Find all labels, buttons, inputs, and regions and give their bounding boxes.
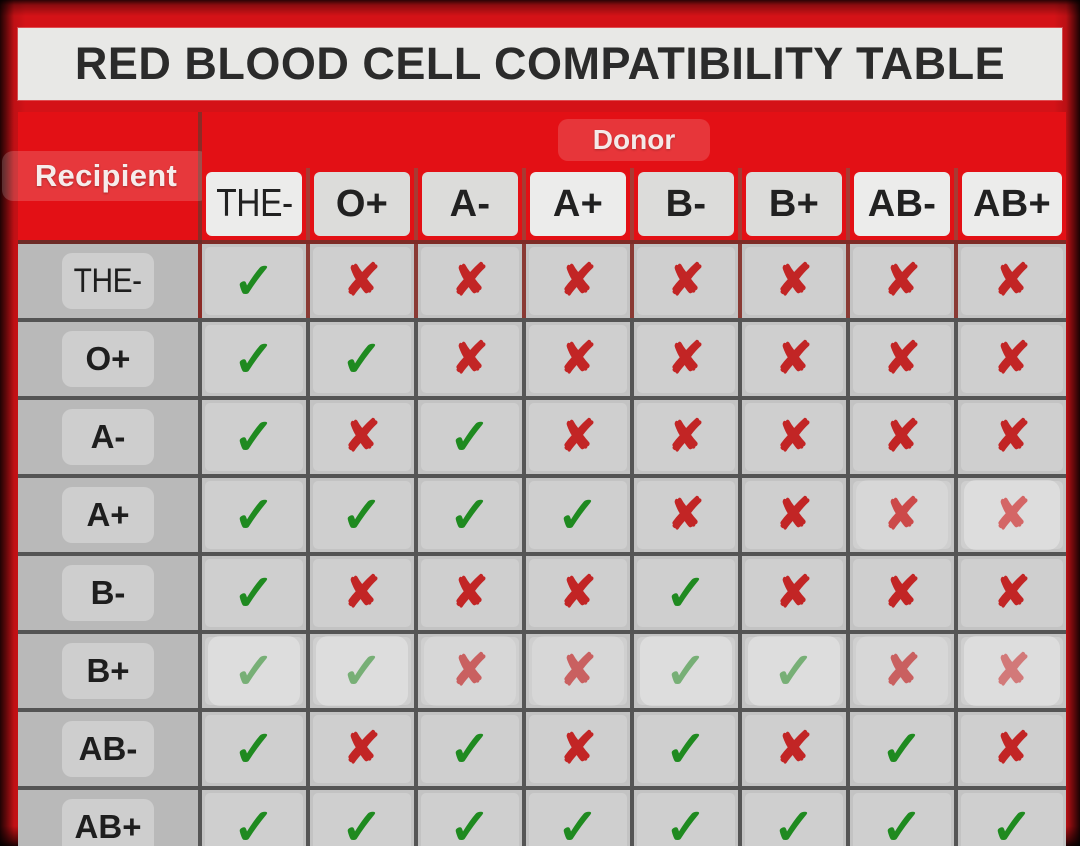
cell-chip: ✘ [313, 559, 411, 627]
cross-icon: ✘ [884, 415, 921, 459]
cell-chip: ✘ [421, 637, 519, 705]
cross-icon: ✘ [560, 337, 597, 381]
cross-icon: ✘ [994, 415, 1031, 459]
compatibility-cell-AB+-O+[interactable]: ✓ [308, 788, 416, 846]
compatibility-cell-AB+-B+[interactable]: ✓ [740, 788, 848, 846]
compatibility-cell-AB--THE-[interactable]: ✓ [200, 710, 308, 788]
donor-header-label: A- [450, 183, 491, 226]
compatibility-cell-A--O+[interactable]: ✘ [308, 398, 416, 476]
check-icon: ✓ [341, 490, 383, 540]
compatibility-cell-AB+-AB+[interactable]: ✓ [956, 788, 1066, 846]
cell-chip: ✘ [637, 247, 735, 315]
donor-header-chip: AB+ [962, 172, 1062, 236]
cross-icon: ✘ [560, 415, 597, 459]
recipient-row-header-opos[interactable]: O+ [18, 320, 200, 398]
compatibility-cell-O+-AB+[interactable]: ✘ [956, 320, 1066, 398]
compatibility-cell-A--A-[interactable]: ✓ [416, 398, 524, 476]
recipient-row-label: B- [91, 574, 126, 612]
check-icon: ✓ [233, 802, 275, 846]
cross-icon: ✘ [560, 571, 597, 615]
cell-chip: ✘ [637, 481, 735, 549]
check-icon: ✓ [665, 646, 707, 696]
recipient-row-header-bpos[interactable]: B+ [18, 632, 200, 710]
recipient-row-header-theneg[interactable]: THE- [18, 242, 200, 320]
cross-icon: ✘ [560, 727, 597, 771]
table-row: A-✓✘✓✘✘✘✘✘ [18, 398, 1066, 476]
cross-icon: ✘ [776, 415, 813, 459]
cell-chip: ✘ [529, 637, 627, 705]
compatibility-cell-AB--AB+[interactable]: ✘ [956, 710, 1066, 788]
donor-column-header-bneg[interactable]: B- [632, 168, 740, 242]
cell-chip: ✘ [961, 247, 1063, 315]
cell-chip: ✘ [421, 325, 519, 393]
cell-chip: ✘ [529, 403, 627, 471]
compatibility-cell-A+-AB-[interactable]: ✘ [848, 476, 956, 554]
donor-column-header-bpos[interactable]: B+ [740, 168, 848, 242]
donor-column-header-abneg[interactable]: AB- [848, 168, 956, 242]
compatibility-cell-A--AB-[interactable]: ✘ [848, 398, 956, 476]
compatibility-cell-B+-THE-[interactable]: ✓ [200, 632, 308, 710]
cell-chip: ✘ [421, 559, 519, 627]
check-icon: ✓ [557, 490, 599, 540]
cross-icon: ✘ [776, 727, 813, 771]
cell-chip: ✓ [961, 793, 1063, 846]
recipient-header-chip: A- [62, 409, 154, 465]
compatibility-cell-A+-A+[interactable]: ✓ [524, 476, 632, 554]
cell-chip: ✘ [529, 559, 627, 627]
cross-icon: ✘ [452, 259, 489, 303]
cell-chip: ✓ [313, 793, 411, 846]
table-row: AB-✓✘✓✘✓✘✓✘ [18, 710, 1066, 788]
cell-chip: ✘ [745, 559, 843, 627]
cross-icon: ✘ [884, 337, 921, 381]
cell-chip: ✓ [637, 559, 735, 627]
cell-chip: ✓ [745, 793, 843, 846]
compatibility-cell-A+-B-[interactable]: ✘ [632, 476, 740, 554]
donor-column-header-apos[interactable]: A+ [524, 168, 632, 242]
cell-chip: ✘ [961, 403, 1063, 471]
check-icon: ✓ [233, 334, 275, 384]
donor-header-label: A+ [553, 183, 603, 226]
cell-chip: ✓ [205, 247, 303, 315]
compatibility-cell-B--A-[interactable]: ✘ [416, 554, 524, 632]
cell-chip: ✘ [853, 403, 951, 471]
compatibility-cell-AB--B-[interactable]: ✓ [632, 710, 740, 788]
recipient-header-chip: THE- [62, 253, 154, 309]
cell-chip: ✓ [853, 793, 951, 846]
compatibility-cell-AB--A+[interactable]: ✘ [524, 710, 632, 788]
cell-chip: ✘ [961, 325, 1063, 393]
compatibility-cell-AB+-THE-[interactable]: ✓ [200, 788, 308, 846]
cell-chip: ✘ [853, 247, 951, 315]
cross-icon: ✘ [668, 493, 705, 537]
check-icon: ✓ [773, 802, 815, 846]
page-title: RED BLOOD CELL COMPATIBILITY TABLE [75, 38, 1005, 90]
compatibility-cell-B+-A+[interactable]: ✘ [524, 632, 632, 710]
check-icon: ✓ [773, 646, 815, 696]
check-icon: ✓ [341, 646, 383, 696]
compatibility-cell-O+-B-[interactable]: ✘ [632, 320, 740, 398]
check-icon: ✓ [557, 802, 599, 846]
compatibility-cell-AB+-AB-[interactable]: ✓ [848, 788, 956, 846]
cell-chip: ✘ [961, 715, 1063, 783]
cell-chip: ✘ [313, 715, 411, 783]
check-icon: ✓ [341, 802, 383, 846]
recipient-axis-label: Recipient [35, 158, 177, 194]
cross-icon: ✘ [776, 571, 813, 615]
recipient-row-header-abpos[interactable]: AB+ [18, 788, 200, 846]
table-row: O+✓✓✘✘✘✘✘✘ [18, 320, 1066, 398]
cell-chip: ✘ [745, 715, 843, 783]
check-icon: ✓ [233, 412, 275, 462]
compatibility-cell-O+-B+[interactable]: ✘ [740, 320, 848, 398]
recipient-row-header-bneg[interactable]: B- [18, 554, 200, 632]
cell-chip: ✓ [205, 793, 303, 846]
donor-header-label: B- [666, 183, 707, 226]
table-row: B+✓✓✘✘✓✓✘✘ [18, 632, 1066, 710]
table-row: AB+✓✓✓✓✓✓✓✓ [18, 788, 1066, 846]
recipient-row-header-aneg[interactable]: A- [18, 398, 200, 476]
compatibility-cell-AB--B+[interactable]: ✘ [740, 710, 848, 788]
cell-chip: ✘ [313, 403, 411, 471]
cell-chip: ✓ [205, 481, 303, 549]
cell-chip: ✓ [205, 715, 303, 783]
cross-icon: ✘ [994, 727, 1031, 771]
cross-icon: ✘ [884, 493, 921, 537]
compatibility-cell-O+-AB-[interactable]: ✘ [848, 320, 956, 398]
compatibility-cell-AB--AB-[interactable]: ✓ [848, 710, 956, 788]
cross-icon: ✘ [668, 337, 705, 381]
compatibility-cell-A--THE-[interactable]: ✓ [200, 398, 308, 476]
table-row: A+✓✓✓✓✘✘✘✘ [18, 476, 1066, 554]
donor-column-header-abpos[interactable]: AB+ [956, 168, 1066, 242]
cell-chip: ✓ [637, 793, 735, 846]
donor-axis-label-cell: Donor [200, 112, 1066, 168]
cell-chip: ✓ [637, 715, 735, 783]
cell-chip: ✘ [529, 247, 627, 315]
cell-chip: ✓ [529, 793, 627, 846]
cell-chip: ✓ [421, 481, 519, 549]
compatibility-cell-O+-A+[interactable]: ✘ [524, 320, 632, 398]
compatibility-cell-A--A+[interactable]: ✘ [524, 398, 632, 476]
check-icon: ✓ [341, 334, 383, 384]
check-icon: ✓ [449, 802, 491, 846]
recipient-row-header-apos[interactable]: A+ [18, 476, 200, 554]
cell-chip: ✓ [205, 559, 303, 627]
recipient-row-label: AB+ [75, 808, 142, 846]
compatibility-cell-A--B+[interactable]: ✘ [740, 398, 848, 476]
recipient-label-pill: Recipient [2, 151, 210, 201]
check-icon: ✓ [233, 256, 275, 306]
cross-icon: ✘ [994, 571, 1031, 615]
donor-header-chip: AB- [854, 172, 950, 236]
recipient-row-label: A- [91, 418, 126, 456]
cell-chip: ✘ [421, 247, 519, 315]
compatibility-cell-THE--AB-[interactable]: ✘ [848, 242, 956, 320]
recipient-row-header-abneg[interactable]: AB- [18, 710, 200, 788]
cell-chip: ✘ [745, 481, 843, 549]
recipient-row-label: B+ [86, 652, 129, 690]
cell-chip: ✘ [853, 637, 951, 705]
cell-chip: ✘ [529, 715, 627, 783]
cell-chip: ✓ [745, 637, 843, 705]
check-icon: ✓ [233, 568, 275, 618]
donor-header-chip: B+ [746, 172, 842, 236]
donor-column-header-theneg[interactable]: THE- [200, 168, 308, 242]
donor-label-pill: Donor [558, 119, 710, 161]
cross-icon: ✘ [560, 259, 597, 303]
compatibility-cell-B--O+[interactable]: ✘ [308, 554, 416, 632]
compatibility-cell-A+-A-[interactable]: ✓ [416, 476, 524, 554]
compatibility-cell-B--B+[interactable]: ✘ [740, 554, 848, 632]
donor-header-chip: O+ [314, 172, 410, 236]
cross-icon: ✘ [344, 259, 381, 303]
recipient-row-label: THE- [74, 262, 142, 301]
compatibility-cell-THE--A+[interactable]: ✘ [524, 242, 632, 320]
compatibility-cell-B+-AB-[interactable]: ✘ [848, 632, 956, 710]
donor-header-chip: A+ [530, 172, 626, 236]
donor-header-label: AB- [868, 183, 936, 226]
cell-chip: ✓ [421, 403, 519, 471]
cell-chip: ✓ [529, 481, 627, 549]
cross-icon: ✘ [884, 259, 921, 303]
cell-chip: ✓ [313, 325, 411, 393]
donor-header-label: O+ [336, 183, 388, 226]
check-icon: ✓ [449, 412, 491, 462]
compatibility-cell-A+-O+[interactable]: ✓ [308, 476, 416, 554]
cell-chip: ✓ [637, 637, 735, 705]
cell-chip: ✘ [853, 481, 951, 549]
check-icon: ✓ [233, 646, 275, 696]
recipient-axis-label-cell: Recipient [18, 112, 200, 242]
recipient-row-label: AB- [79, 730, 138, 768]
cross-icon: ✘ [994, 493, 1031, 537]
compatibility-cell-THE--A-[interactable]: ✘ [416, 242, 524, 320]
cell-chip: ✘ [745, 325, 843, 393]
donor-header-chip: THE- [206, 172, 302, 236]
cross-icon: ✘ [668, 259, 705, 303]
cross-icon: ✘ [776, 259, 813, 303]
compatibility-cell-A--AB+[interactable]: ✘ [956, 398, 1066, 476]
recipient-header-chip: A+ [62, 487, 154, 543]
compatibility-cell-B+-B-[interactable]: ✓ [632, 632, 740, 710]
compatibility-table-screen: RED BLOOD CELL COMPATIBILITY TABLE Recip… [0, 0, 1080, 846]
cell-chip: ✘ [961, 637, 1063, 705]
check-icon: ✓ [233, 724, 275, 774]
compatibility-cell-B+-A-[interactable]: ✘ [416, 632, 524, 710]
donor-header-chip: A- [422, 172, 518, 236]
cell-chip: ✓ [205, 325, 303, 393]
compatibility-cell-THE--O+[interactable]: ✘ [308, 242, 416, 320]
recipient-row-label: A+ [86, 496, 129, 534]
cross-icon: ✘ [344, 727, 381, 771]
compatibility-cell-THE--THE-[interactable]: ✓ [200, 242, 308, 320]
compatibility-cell-A+-AB+[interactable]: ✘ [956, 476, 1066, 554]
cell-chip: ✓ [421, 793, 519, 846]
check-icon: ✓ [881, 724, 923, 774]
cross-icon: ✘ [452, 571, 489, 615]
cross-icon: ✘ [776, 493, 813, 537]
donor-header-label: B+ [769, 183, 819, 226]
cell-chip: ✘ [745, 247, 843, 315]
check-icon: ✓ [665, 802, 707, 846]
cell-chip: ✓ [205, 637, 303, 705]
cross-icon: ✘ [452, 337, 489, 381]
compatibility-cell-AB--O+[interactable]: ✘ [308, 710, 416, 788]
cell-chip: ✓ [421, 715, 519, 783]
cell-chip: ✘ [745, 403, 843, 471]
compatibility-cell-AB+-A+[interactable]: ✓ [524, 788, 632, 846]
compatibility-cell-THE--B-[interactable]: ✘ [632, 242, 740, 320]
compatibility-cell-B--THE-[interactable]: ✓ [200, 554, 308, 632]
check-icon: ✓ [233, 490, 275, 540]
donor-column-header-aneg[interactable]: A- [416, 168, 524, 242]
check-icon: ✓ [665, 568, 707, 618]
compatibility-cell-O+-A-[interactable]: ✘ [416, 320, 524, 398]
cross-icon: ✘ [560, 649, 597, 693]
cell-chip: ✘ [961, 481, 1063, 549]
table-row: THE-✓✘✘✘✘✘✘✘ [18, 242, 1066, 320]
cell-chip: ✘ [637, 403, 735, 471]
donor-banner-row: RecipientDonor [18, 112, 1066, 168]
cell-chip: ✓ [313, 637, 411, 705]
cell-chip: ✓ [205, 403, 303, 471]
table-row: B-✓✘✘✘✓✘✘✘ [18, 554, 1066, 632]
check-icon: ✓ [881, 802, 923, 846]
cross-icon: ✘ [452, 649, 489, 693]
compatibility-cell-A--B-[interactable]: ✘ [632, 398, 740, 476]
cell-chip: ✘ [313, 247, 411, 315]
cross-icon: ✘ [994, 259, 1031, 303]
compatibility-cell-THE--AB+[interactable]: ✘ [956, 242, 1066, 320]
cross-icon: ✘ [344, 415, 381, 459]
recipient-row-label: O+ [86, 340, 131, 378]
compatibility-cell-B+-AB+[interactable]: ✘ [956, 632, 1066, 710]
cell-chip: ✓ [853, 715, 951, 783]
compatibility-cell-B+-B+[interactable]: ✓ [740, 632, 848, 710]
check-icon: ✓ [665, 724, 707, 774]
cross-icon: ✘ [776, 337, 813, 381]
compatibility-cell-O+-THE-[interactable]: ✓ [200, 320, 308, 398]
cell-chip: ✘ [853, 559, 951, 627]
compatibility-cell-THE--B+[interactable]: ✘ [740, 242, 848, 320]
compatibility-cell-AB--A-[interactable]: ✓ [416, 710, 524, 788]
cross-icon: ✘ [994, 649, 1031, 693]
donor-column-header-opos[interactable]: O+ [308, 168, 416, 242]
cross-icon: ✘ [344, 571, 381, 615]
donor-axis-label: Donor [593, 124, 675, 156]
donor-header-label: THE- [216, 182, 293, 226]
donor-header-chip: B- [638, 172, 734, 236]
cross-icon: ✘ [884, 649, 921, 693]
compatibility-cell-B+-O+[interactable]: ✓ [308, 632, 416, 710]
check-icon: ✓ [449, 490, 491, 540]
compatibility-cell-AB+-B-[interactable]: ✓ [632, 788, 740, 846]
compatibility-cell-A+-THE-[interactable]: ✓ [200, 476, 308, 554]
cell-chip: ✘ [637, 325, 735, 393]
cross-icon: ✘ [668, 415, 705, 459]
donor-header-label: AB+ [973, 183, 1051, 226]
compatibility-cell-O+-O+[interactable]: ✓ [308, 320, 416, 398]
compatibility-cell-B--B-[interactable]: ✓ [632, 554, 740, 632]
cell-chip: ✓ [313, 481, 411, 549]
recipient-header-chip: B+ [62, 643, 154, 699]
compatibility-table: RecipientDonorTHE-O+A-A+B-B+AB-AB+THE-✓✘… [18, 112, 1066, 846]
cross-icon: ✘ [884, 571, 921, 615]
compatibility-cell-AB+-A-[interactable]: ✓ [416, 788, 524, 846]
recipient-header-chip: AB+ [62, 799, 154, 846]
compatibility-cell-B--AB-[interactable]: ✘ [848, 554, 956, 632]
compatibility-cell-B--A+[interactable]: ✘ [524, 554, 632, 632]
title-bar: RED BLOOD CELL COMPATIBILITY TABLE [18, 28, 1062, 100]
check-icon: ✓ [991, 802, 1033, 846]
cross-icon: ✘ [994, 337, 1031, 381]
recipient-header-chip: AB- [62, 721, 154, 777]
cell-chip: ✘ [961, 559, 1063, 627]
compatibility-cell-B--AB+[interactable]: ✘ [956, 554, 1066, 632]
compatibility-table-wrap: RecipientDonorTHE-O+A-A+B-B+AB-AB+THE-✓✘… [18, 112, 1064, 834]
recipient-header-chip: B- [62, 565, 154, 621]
compatibility-cell-A+-B+[interactable]: ✘ [740, 476, 848, 554]
cell-chip: ✘ [529, 325, 627, 393]
check-icon: ✓ [449, 724, 491, 774]
cell-chip: ✘ [853, 325, 951, 393]
recipient-header-chip: O+ [62, 331, 154, 387]
